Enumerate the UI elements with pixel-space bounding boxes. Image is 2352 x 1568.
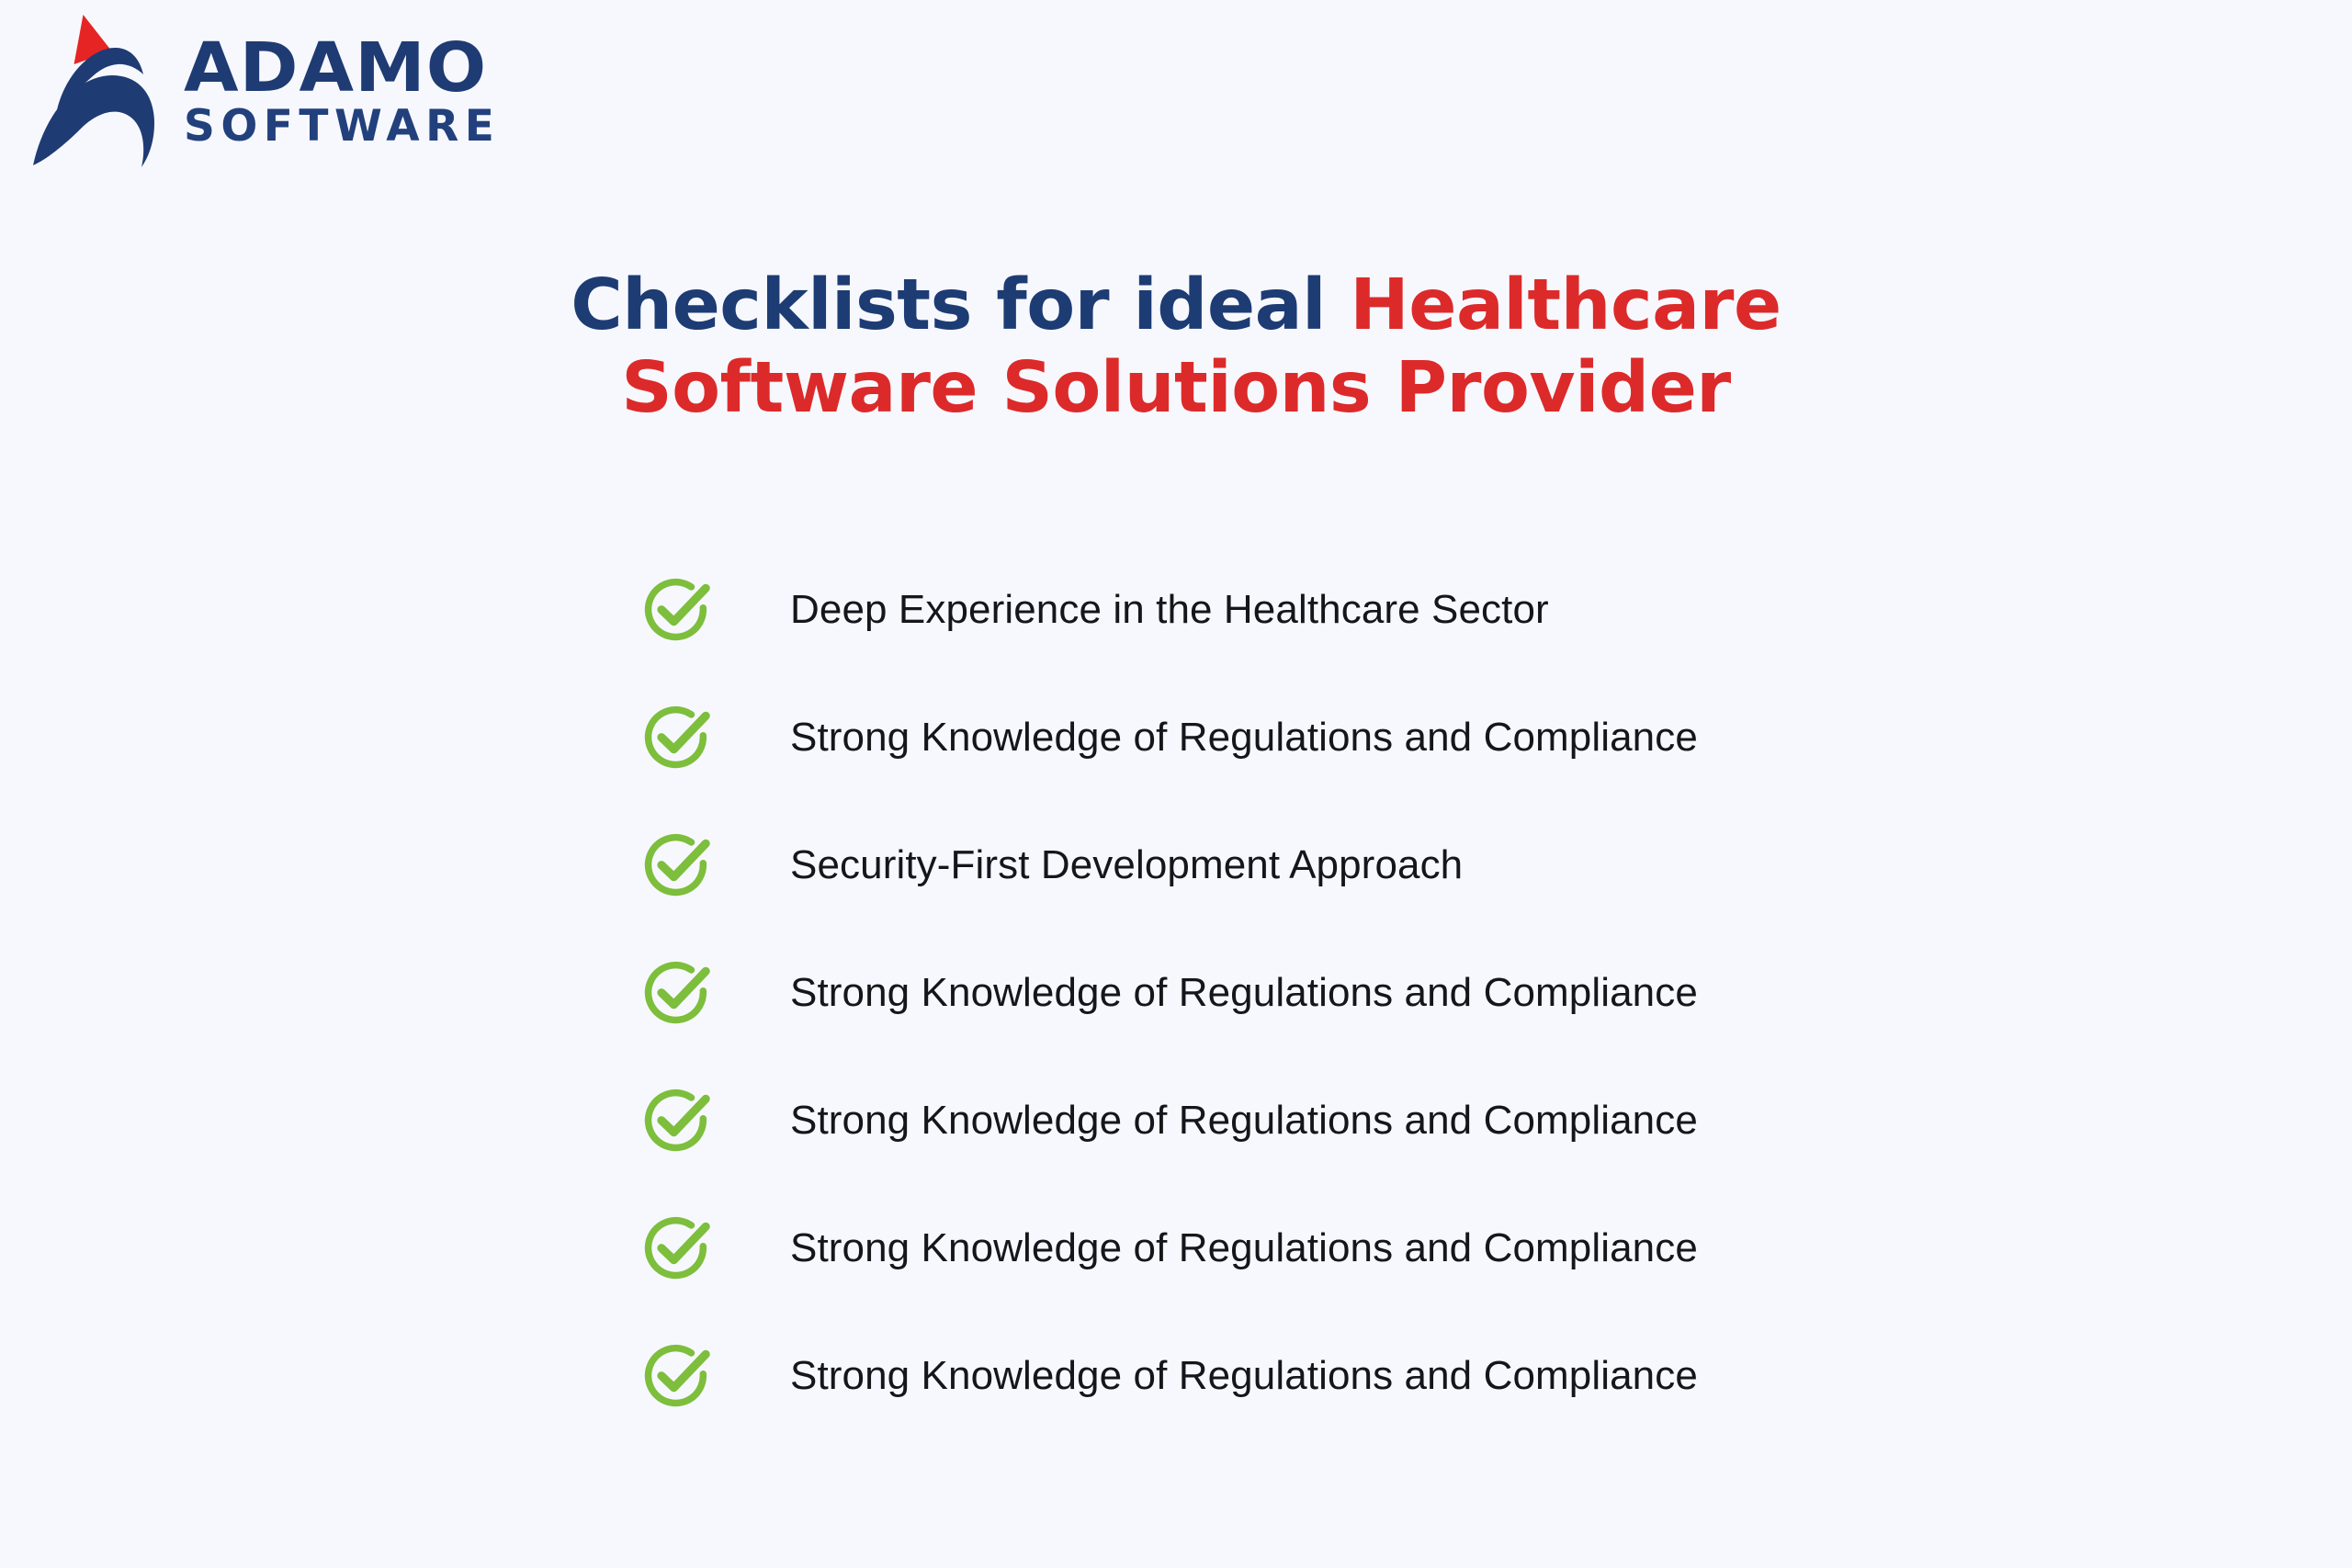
list-item-label: Strong Knowledge of Regulations and Comp…	[790, 1098, 1698, 1144]
list-item-3: Security-First Development Approach	[641, 823, 1946, 908]
check-circle-icon	[641, 702, 713, 773]
check-circle-icon	[641, 1340, 713, 1412]
brand-wordmark: ADAMO SOFTWARE	[184, 37, 500, 150]
list-item-5: Strong Knowledge of Regulations and Comp…	[641, 1078, 1946, 1163]
list-item-1: Deep Experience in the Healthcare Sector	[641, 568, 1946, 652]
brand-name-secondary: SOFTWARE	[184, 104, 500, 149]
list-item-4: Strong Knowledge of Regulations and Comp…	[641, 951, 1946, 1035]
list-item-label: Security-First Development Approach	[790, 842, 1463, 888]
page-title-line2: Software Solutions Provider	[621, 347, 1731, 429]
list-item-label: Strong Knowledge of Regulations and Comp…	[790, 715, 1698, 761]
check-circle-icon	[641, 574, 713, 646]
page-title-line1-accent: Healthcare	[1350, 265, 1781, 346]
list-item-7: Strong Knowledge of Regulations and Comp…	[641, 1334, 1946, 1418]
brand-name-primary: ADAMO	[184, 37, 513, 101]
adamo-arrow-mark-icon	[26, 7, 165, 173]
slide-root: { "brand": { "name_line1": "ADAMO", "nam…	[0, 0, 2352, 1568]
check-circle-icon	[641, 957, 713, 1029]
checklist: Deep Experience in the Healthcare Sector…	[641, 568, 1946, 1418]
list-item-label: Strong Knowledge of Regulations and Comp…	[790, 970, 1698, 1016]
check-circle-icon	[641, 1085, 713, 1156]
list-item-6: Strong Knowledge of Regulations and Comp…	[641, 1206, 1946, 1291]
check-circle-icon	[641, 1213, 713, 1284]
check-circle-icon	[641, 829, 713, 901]
list-item-2: Strong Knowledge of Regulations and Comp…	[641, 695, 1946, 780]
page-title: Checklists for ideal Healthcare Software…	[0, 265, 2352, 430]
brand-logo[interactable]: ADAMO SOFTWARE	[26, 7, 500, 173]
list-item-label: Strong Knowledge of Regulations and Comp…	[790, 1353, 1698, 1399]
list-item-label: Deep Experience in the Healthcare Sector	[790, 587, 1549, 633]
page-title-line1-primary: Checklists for ideal	[571, 265, 1350, 346]
list-item-label: Strong Knowledge of Regulations and Comp…	[790, 1225, 1698, 1271]
